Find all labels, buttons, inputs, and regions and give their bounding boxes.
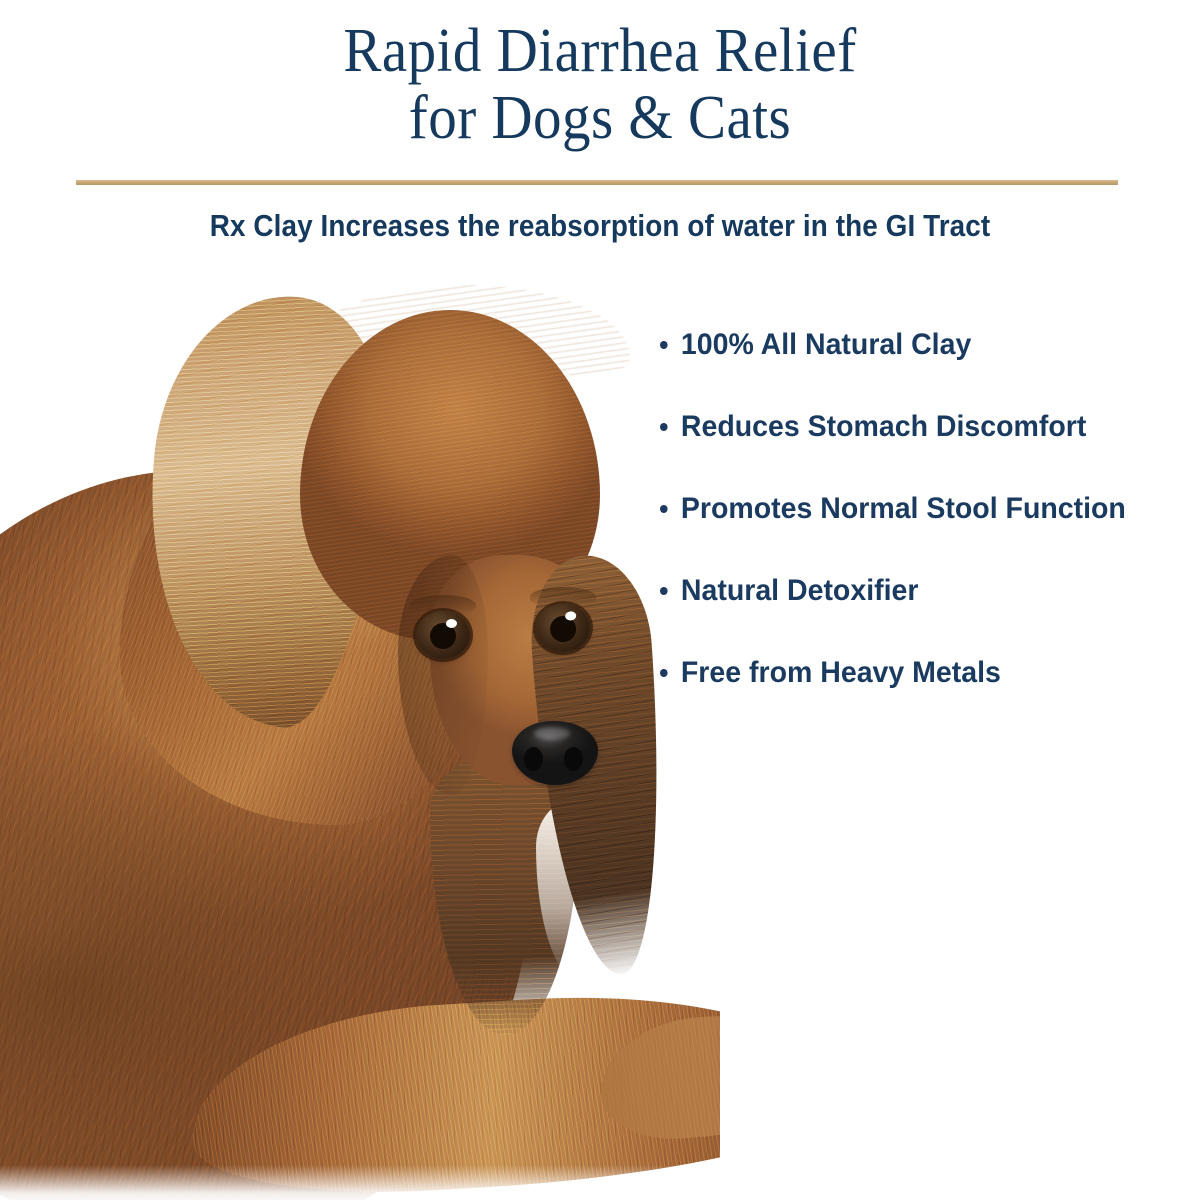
dog-eye-glint-left (446, 619, 457, 628)
benefit-label: Reduces Stomach Discomfort (681, 410, 1086, 443)
bullet-dot-icon (660, 505, 668, 513)
dog-skull (300, 310, 600, 640)
list-item: Natural Detoxifier (660, 576, 1164, 658)
dog-nose-highlight (534, 727, 570, 740)
dog-eye-right (534, 602, 591, 654)
bullet-dot-icon (660, 669, 668, 677)
subtitle: Rx Clay Increases the reabsorption of wa… (60, 208, 1140, 244)
dog-ear-left (132, 286, 399, 734)
benefit-label: Free from Heavy Metals (681, 656, 1001, 689)
dog-nose (512, 721, 598, 785)
dog-muzzle-shading (398, 555, 488, 795)
list-item: Reduces Stomach Discomfort (660, 412, 1164, 494)
dog-shoulder (120, 405, 480, 825)
bullet-dot-icon (660, 341, 668, 349)
dog-photo (0, 255, 720, 1200)
dog-skull-texture (300, 310, 600, 640)
list-item: Free from Heavy Metals (660, 658, 1164, 740)
list-item: Promotes Normal Stool Function (660, 494, 1164, 576)
benefit-label: 100% All Natural Clay (681, 328, 971, 361)
dog-muzzle (430, 555, 605, 785)
dog-chest-fringe (430, 755, 580, 1035)
bullet-dot-icon (660, 587, 668, 595)
dog-eye-left (416, 611, 470, 659)
dog-chin-blaze (536, 800, 622, 980)
dog-tail-tip (596, 1006, 720, 1144)
dog-brow-right (530, 587, 596, 607)
dog-eye-glint-right (565, 611, 577, 621)
dog-tail-fur-texture (185, 980, 720, 1200)
dog-nostril-left (524, 747, 543, 771)
dog-ear-right (525, 551, 674, 978)
dog-body (0, 470, 530, 1200)
bullet-dot-icon (660, 423, 668, 431)
dog-body-shading (0, 725, 490, 1200)
dog-ear-right-texture (525, 551, 674, 978)
dog-head (0, 255, 720, 1200)
gold-divider (76, 180, 1118, 185)
list-item: 100% All Natural Clay (660, 330, 1164, 412)
dog-ear-left-texture (132, 286, 399, 734)
title-line-1: Rapid Diarrhea Relief (48, 18, 1152, 85)
benefit-label: Natural Detoxifier (681, 574, 919, 607)
dog-tail (185, 980, 720, 1200)
benefit-label: Promotes Normal Stool Function (681, 492, 1126, 525)
dog-pupil-right (549, 615, 577, 643)
dog-nostril-right (564, 747, 583, 771)
dog-pupil-left (430, 623, 456, 649)
benefits-list: 100% All Natural Clay Reduces Stomach Di… (660, 330, 1190, 740)
photo-ground-fade (0, 1165, 720, 1200)
dog-crown-wisps (300, 285, 630, 375)
page-title: Rapid Diarrhea Relief for Dogs & Cats (48, 18, 1152, 152)
dog-body-fur-texture (0, 470, 530, 1200)
promo-graphic: Rapid Diarrhea Relief for Dogs & Cats Rx… (0, 0, 1200, 1200)
dog-brow-left (410, 595, 476, 615)
title-line-2: for Dogs & Cats (48, 85, 1152, 152)
dog-chest-fringe-texture (430, 755, 580, 1035)
dog-shoulder-fur-texture (120, 405, 480, 825)
